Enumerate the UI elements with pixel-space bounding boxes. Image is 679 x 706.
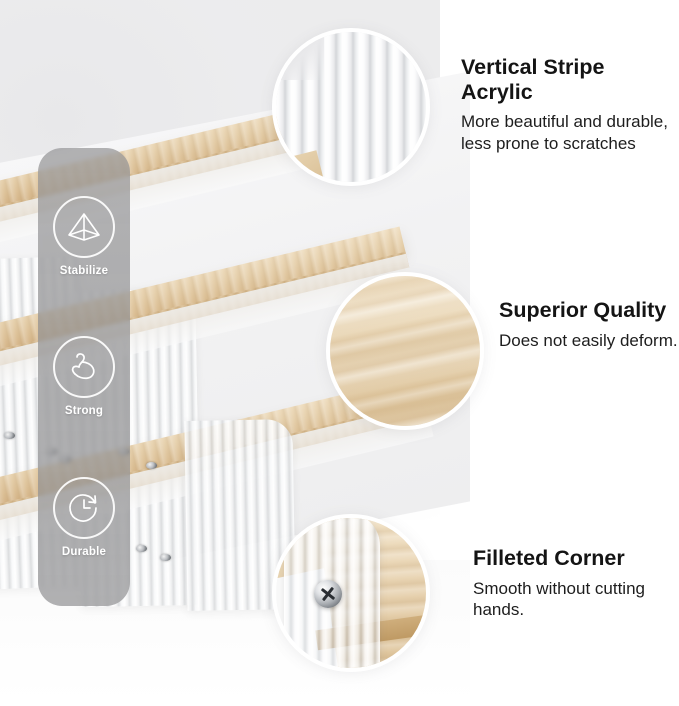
panel-screw <box>4 432 15 439</box>
panel-screw <box>160 554 171 561</box>
feature-item-durable: Durable <box>53 477 115 558</box>
panel-screw <box>146 462 157 469</box>
callout-title: Filleted Corner <box>473 546 673 571</box>
wood-grain-texture <box>330 276 480 426</box>
pyramid-icon <box>53 196 115 258</box>
panel-screw <box>136 545 147 552</box>
callout-title: Vertical Stripe Acrylic <box>461 55 679 104</box>
callout-inset-superior-quality <box>326 272 484 430</box>
screw-head-icon <box>314 580 342 608</box>
inset-corner-shade <box>272 28 324 80</box>
callout-body: Smooth without cutting hands. <box>473 578 673 621</box>
feature-label: Durable <box>62 546 106 558</box>
callout-inset-vertical-stripe-acrylic <box>272 28 430 186</box>
callout-text-superior-quality: Superior Quality Does not easily deform. <box>499 298 679 351</box>
callout-inset-filleted-corner <box>272 514 430 672</box>
feature-label: Stabilize <box>60 265 108 277</box>
callout-text-filleted-corner: Filleted Corner Smooth without cutting h… <box>473 546 673 621</box>
callout-body: Does not easily deform. <box>499 330 679 351</box>
callout-body: More beautiful and durable, less prone t… <box>461 111 679 154</box>
clock-rotate-icon <box>53 477 115 539</box>
callout-title: Superior Quality <box>499 298 679 323</box>
feature-strip: Stabilize Strong Durable <box>38 148 130 606</box>
feature-item-strong: Strong <box>53 336 115 417</box>
product-infographic: Stabilize Strong Durable <box>0 0 679 706</box>
callout-text-vertical-stripe-acrylic: Vertical Stripe Acrylic More beautiful a… <box>461 55 679 154</box>
feature-label: Strong <box>65 405 103 417</box>
flexed-bicep-icon <box>53 336 115 398</box>
feature-item-stabilize: Stabilize <box>53 196 115 277</box>
